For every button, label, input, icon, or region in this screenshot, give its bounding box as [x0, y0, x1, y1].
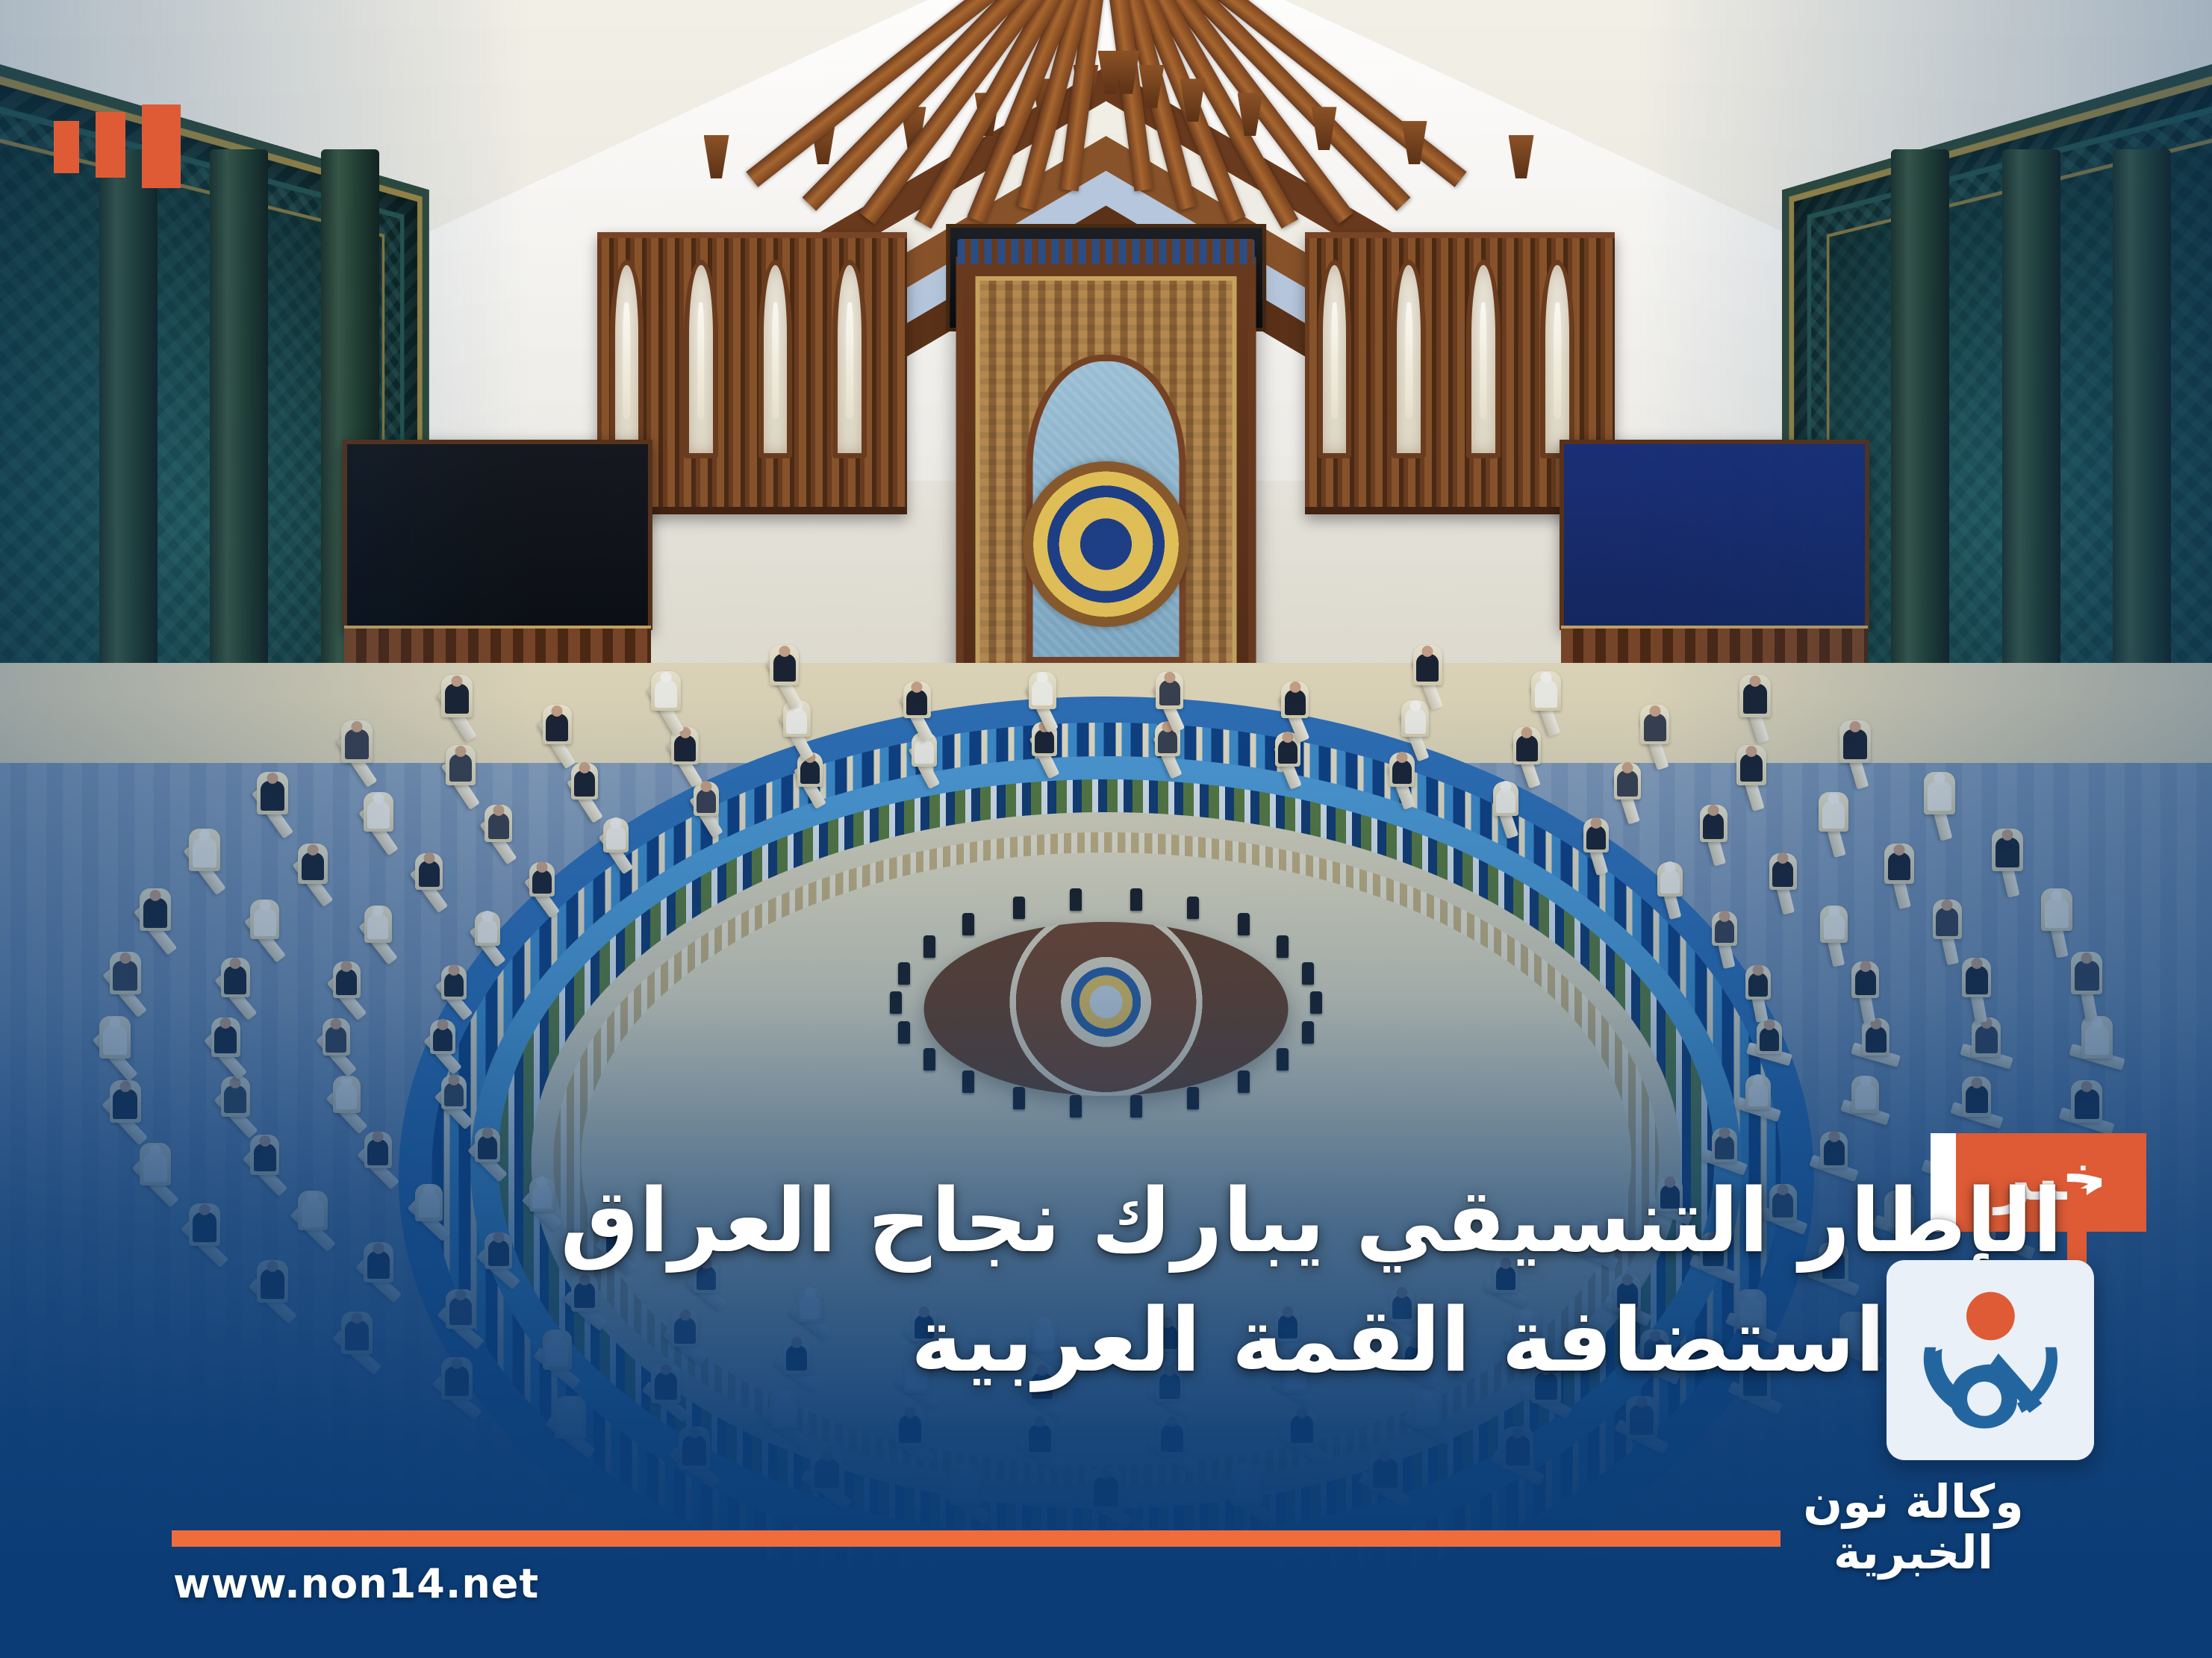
news-card: خبر الإطار التنسيقي يبارك نجاح العراق في…: [0, 0, 2212, 1658]
headline-line-2: في استضافة القمة العربية: [390, 1280, 2063, 1400]
agency-name: وكالة نون الخبرية: [1719, 1477, 2107, 1578]
headline: الإطار التنسيقي يبارك نجاح العراق في است…: [390, 1161, 2063, 1400]
mark-bar-3: [54, 121, 79, 173]
footer-url[interactable]: www.non14.net: [173, 1560, 539, 1607]
noon-agency-logo-icon: [1910, 1282, 2072, 1438]
logo-dot: [1966, 1292, 2015, 1341]
logo-noon-counter: [1967, 1382, 2001, 1416]
footer-divider: [172, 1530, 1780, 1547]
agency-logo: [1887, 1260, 2094, 1460]
photo-blue-gradient-overlay: [0, 0, 2212, 1658]
mark-bar-2: [96, 112, 125, 178]
three-bar-mark-icon: [54, 105, 181, 188]
summit-hall-photo: [0, 0, 2212, 1658]
mark-bar-1: [142, 105, 181, 188]
headline-line-1: الإطار التنسيقي يبارك نجاح العراق: [390, 1161, 2063, 1280]
